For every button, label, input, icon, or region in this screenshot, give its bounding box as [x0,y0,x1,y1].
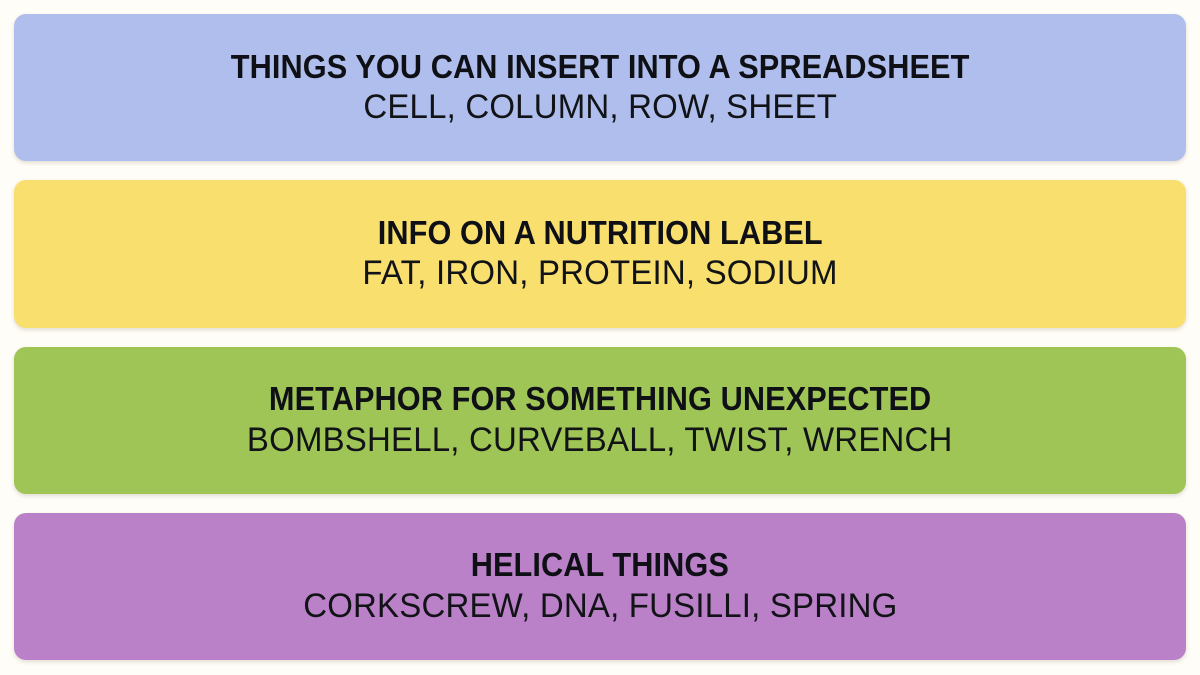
connections-answer-board: THINGS YOU CAN INSERT INTO A SPREADSHEET… [0,0,1200,675]
category-title: THINGS YOU CAN INSERT INTO A SPREADSHEET [231,48,970,86]
category-members: FAT, IRON, PROTEIN, SODIUM [362,254,837,293]
category-members: CORKSCREW, DNA, FUSILLI, SPRING [303,587,897,626]
category-title: METAPHOR FOR SOMETHING UNEXPECTED [269,380,931,418]
category-members: BOMBSHELL, CURVEBALL, TWIST, WRENCH [247,421,953,460]
category-card-purple[interactable]: HELICAL THINGS CORKSCREW, DNA, FUSILLI, … [14,513,1186,660]
category-title: INFO ON A NUTRITION LABEL [377,214,822,252]
category-title: HELICAL THINGS [471,546,729,584]
category-card-green[interactable]: METAPHOR FOR SOMETHING UNEXPECTED BOMBSH… [14,347,1186,494]
category-card-blue[interactable]: THINGS YOU CAN INSERT INTO A SPREADSHEET… [14,14,1186,161]
category-members: CELL, COLUMN, ROW, SHEET [363,88,837,127]
category-card-yellow[interactable]: INFO ON A NUTRITION LABEL FAT, IRON, PRO… [14,180,1186,327]
